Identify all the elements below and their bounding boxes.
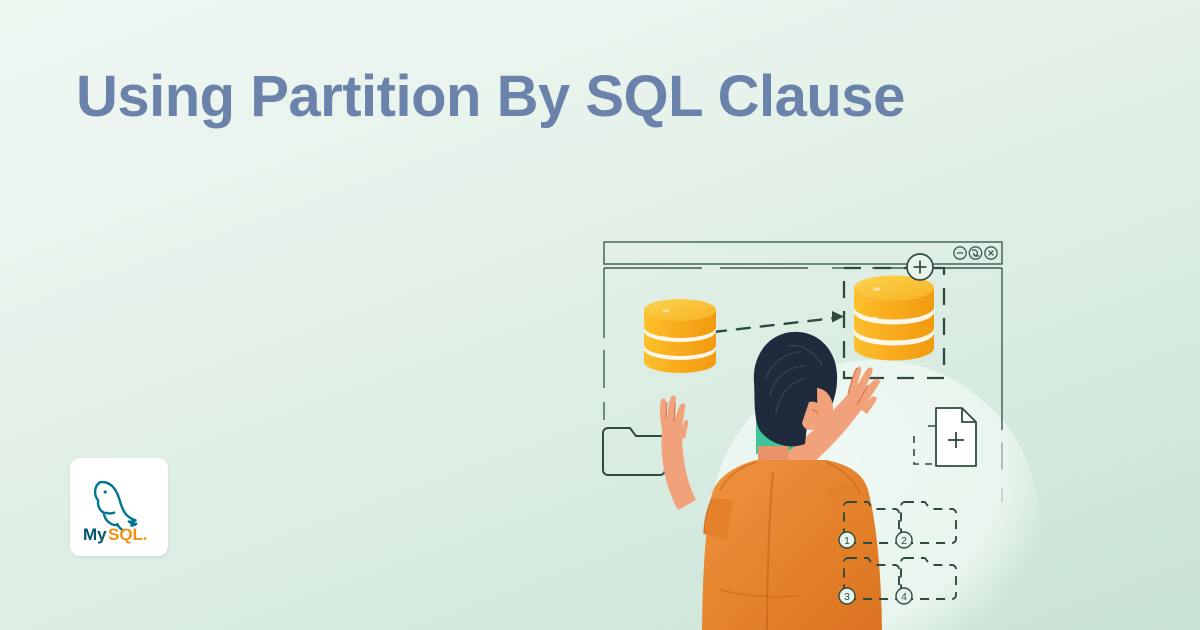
window-control-close-icon[interactable] [985, 247, 997, 259]
target-database-icon[interactable] [854, 276, 934, 361]
window-control-minimize-icon[interactable] [954, 247, 966, 259]
database-partitioning-illustration: 1 2 3 4 [560, 210, 1080, 630]
dashed-arrow [713, 311, 844, 332]
mysql-wordmark-sql: SQL [108, 525, 143, 544]
window-titlebar [604, 242, 1002, 264]
partition-folder-4-number: 4 [901, 592, 907, 603]
dolphin-eye [104, 490, 107, 493]
mysql-logo-card: My SQL [70, 458, 168, 556]
left-arm [662, 430, 696, 510]
mysql-logo: My SQL [81, 470, 157, 544]
partition-folder-3-number: 3 [844, 592, 850, 603]
page-title: Using Partition By SQL Clause [76, 64, 1006, 131]
mysql-wordmark-my: My [83, 525, 107, 544]
illustration-root: 1 2 3 4 [560, 210, 1080, 630]
window-control-refresh-icon[interactable] [969, 247, 981, 259]
plus-badge-icon[interactable] [907, 254, 933, 280]
partition-folder-2[interactable]: 2 [896, 502, 956, 548]
person-illustration [660, 332, 882, 630]
partition-folder-2-number: 2 [901, 536, 907, 547]
dolphin-icon [95, 482, 136, 530]
mysql-registered-dot [144, 537, 147, 540]
new-document-icon[interactable] [914, 408, 976, 466]
folder-icon[interactable] [603, 428, 665, 475]
partition-folder-4[interactable]: 4 [896, 558, 956, 604]
partition-folder-1-number: 1 [844, 536, 850, 547]
source-database-icon[interactable] [644, 299, 716, 373]
